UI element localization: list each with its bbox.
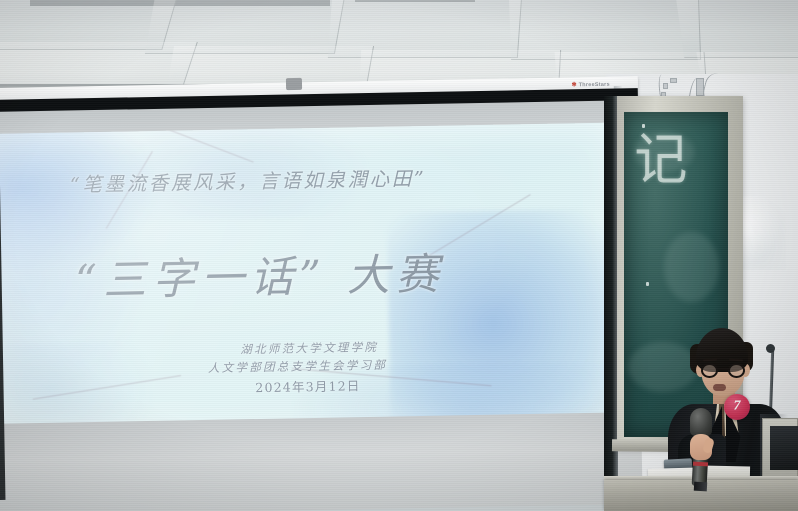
projected-slide[interactable]: “笔墨流香展风采，言语如泉潤心田” “三字一话” 大赛 湖北师范大学文理学院 人… — [0, 123, 618, 434]
brand-mark-icon: ✻ — [571, 82, 576, 88]
speaker-mouth — [713, 384, 726, 391]
screen-surround-bottom — [0, 412, 643, 511]
blackboard-chalk-writing: 记 — [627, 118, 726, 208]
glasses-lens-left — [701, 363, 718, 378]
brand-name: ThreeStars — [579, 82, 610, 89]
wall-junction-box — [670, 78, 677, 83]
ceiling-tile — [676, 0, 798, 58]
microphone-head — [690, 408, 712, 436]
lecture-hall-photo: ✻ ThreeStars “笔墨流香展风采，言语如泉潤心田” “三字一话” 大赛… — [0, 0, 798, 511]
chalk-smudge — [664, 232, 719, 302]
wall-junction-box — [663, 83, 668, 89]
glasses-bridge — [717, 368, 729, 370]
glasses-lens-right — [728, 363, 745, 378]
podium-monitor-screen — [770, 426, 798, 470]
slide-text-block: “笔墨流香展风采，言语如泉潤心田” “三字一话” 大赛 湖北师范大学文理学院 人… — [0, 123, 618, 434]
contestant-number-badge: 7 — [724, 394, 750, 420]
slide-title: “三字一话” 大赛 — [0, 238, 520, 310]
slide-subtitle: “笔墨流香展风采，言语如泉潤心田” — [0, 160, 508, 199]
chalk-dot — [646, 282, 649, 286]
microphone-indicator-ring — [693, 462, 708, 467]
wall-junction-box — [696, 78, 704, 96]
microphone-base — [694, 482, 707, 492]
badge-number: 7 — [734, 399, 741, 415]
housing-clip — [286, 78, 302, 90]
projector-brand-label: ✻ ThreeStars — [571, 81, 609, 89]
